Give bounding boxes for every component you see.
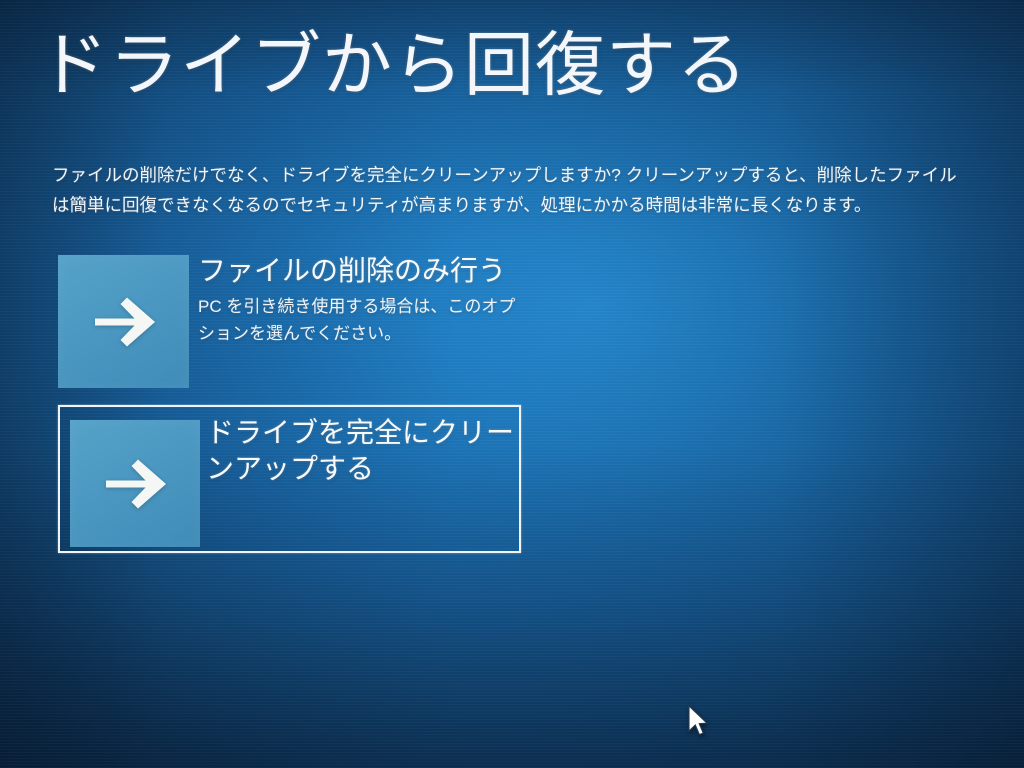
arrow-right-icon bbox=[98, 457, 172, 511]
option-fully-clean-drive[interactable]: ドライブを完全にクリーンアップする bbox=[58, 405, 521, 553]
option-delete-files-only[interactable]: ファイルの削除のみ行う PC を引き続き使用する場合は、このオプションを選んでく… bbox=[58, 253, 521, 390]
recovery-screen: ドライブから回復する ファイルの削除だけでなく、ドライブを完全にクリーンアップし… bbox=[0, 0, 1024, 768]
option-tile[interactable] bbox=[70, 420, 200, 547]
page-title: ドライブから回復する bbox=[38, 24, 748, 107]
option-heading: ファイルの削除のみ行う bbox=[198, 253, 521, 289]
mouse-pointer-icon bbox=[686, 704, 710, 738]
option-description: PC を引き続き使用する場合は、このオプションを選んでください。 bbox=[198, 293, 521, 347]
intro-paragraph: ファイルの削除だけでなく、ドライブを完全にクリーンアップしますか? クリーンアッ… bbox=[52, 160, 972, 220]
arrow-right-icon bbox=[87, 295, 161, 349]
option-tile[interactable] bbox=[58, 255, 189, 388]
option-heading: ドライブを完全にクリーンアップする bbox=[206, 415, 521, 487]
